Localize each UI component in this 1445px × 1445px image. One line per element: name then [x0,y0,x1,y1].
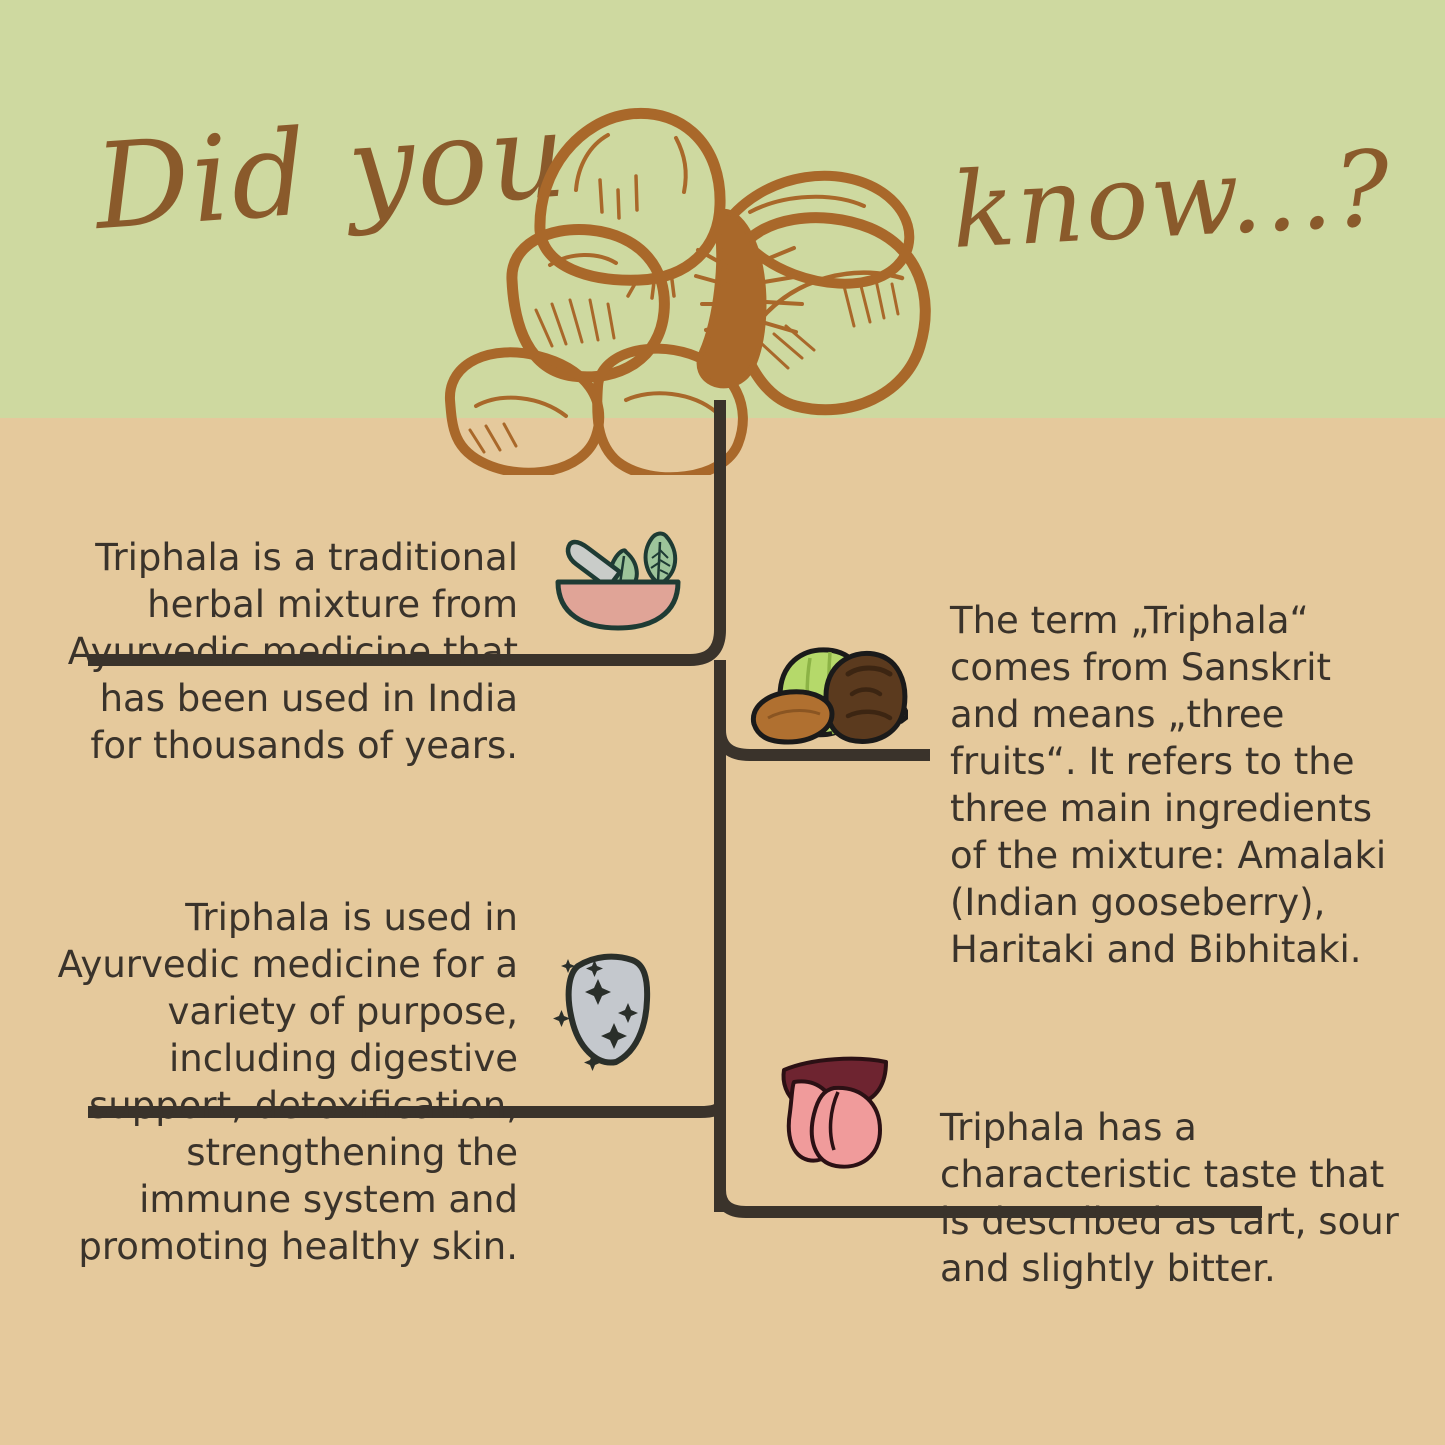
page-title-right: know...? [949,127,1395,272]
tongue-icon [778,1052,896,1174]
mortar-and-pestle-icon [548,522,688,632]
fact-4-text: Triphala has a characteristic taste that… [940,1105,1410,1293]
fact-2-text: The term „Triphala“ comes from Sanskrit … [950,598,1402,974]
three-fruits-icon [748,638,908,750]
fact-1-text: Triphala is a traditional herbal mixture… [48,535,518,770]
fact-3-text: Triphala is used in Ayurvedic medicine f… [28,895,518,1271]
shield-sparkle-icon [552,948,672,1078]
infographic-canvas: Did you know...? [0,0,1445,1445]
triphala-fruit-cluster-sketch-icon [440,100,955,475]
